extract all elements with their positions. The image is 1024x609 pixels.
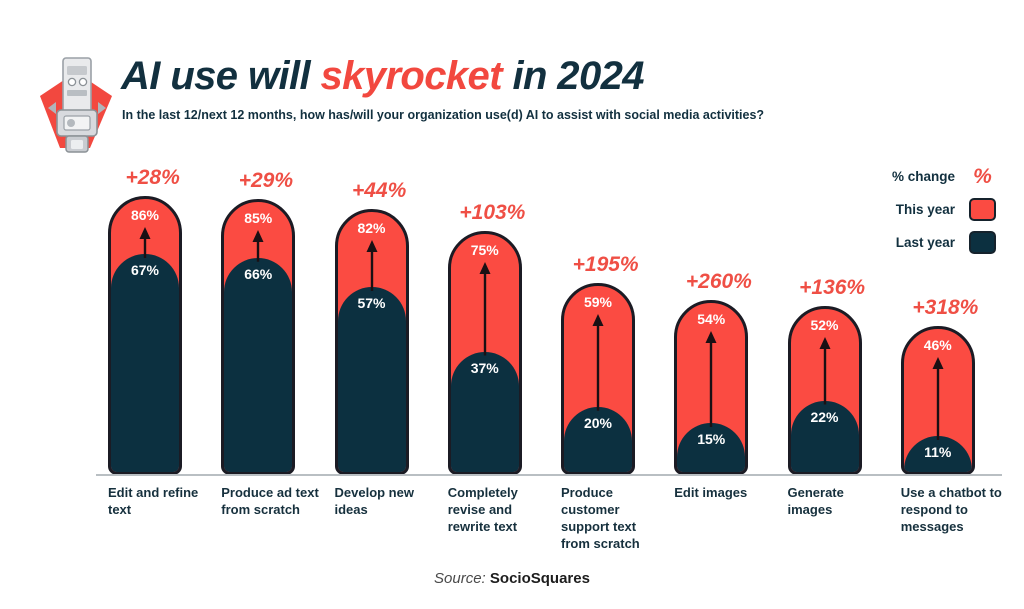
bar-this-year[interactable]: 46%11% bbox=[901, 326, 975, 476]
percent-change-label: +318% bbox=[889, 296, 1002, 320]
value-label-this-year: 52% bbox=[791, 317, 859, 333]
percent-change-label: +136% bbox=[776, 276, 889, 300]
rocket-logo bbox=[30, 44, 122, 162]
title-part-1: AI use will bbox=[121, 54, 321, 98]
percent-change-label: +260% bbox=[662, 270, 775, 294]
title-accent: skyrocket bbox=[321, 54, 502, 98]
category-label: Edit images bbox=[662, 484, 775, 553]
value-label-this-year: 86% bbox=[111, 207, 179, 223]
bar-column: 82%57%+44% bbox=[323, 150, 436, 475]
category-label: Edit and refine text bbox=[96, 484, 209, 553]
bar-wrapper: 52%22% bbox=[788, 306, 862, 475]
bar-last-year[interactable] bbox=[224, 258, 292, 473]
value-label-last-year: 11% bbox=[904, 444, 972, 460]
bar-wrapper: 54%15% bbox=[674, 300, 748, 476]
value-label-last-year: 67% bbox=[111, 262, 179, 278]
source-label: Source: bbox=[434, 570, 486, 587]
value-label-last-year: 20% bbox=[564, 415, 632, 431]
growth-arrow-icon bbox=[931, 357, 945, 441]
value-label-this-year: 46% bbox=[904, 337, 972, 353]
value-label-last-year: 22% bbox=[791, 409, 859, 425]
value-label-this-year: 59% bbox=[564, 294, 632, 310]
chart-baseline bbox=[96, 474, 1002, 476]
page-subtitle: In the last 12/next 12 months, how has/w… bbox=[122, 108, 764, 122]
title-part-2: in 2024 bbox=[502, 54, 644, 98]
category-label: Use a chatbot to respond to messages bbox=[889, 484, 1002, 553]
value-label-last-year: 66% bbox=[224, 266, 292, 282]
bar-last-year[interactable] bbox=[338, 287, 406, 472]
growth-arrow-icon bbox=[704, 331, 718, 428]
value-label-last-year: 37% bbox=[451, 360, 519, 376]
bar-wrapper: 75%37% bbox=[448, 231, 522, 475]
bar-this-year[interactable]: 85%66% bbox=[221, 199, 295, 475]
bar-this-year[interactable]: 52%22% bbox=[788, 306, 862, 475]
bar-this-year[interactable]: 54%15% bbox=[674, 300, 748, 476]
bar-this-year[interactable]: 75%37% bbox=[448, 231, 522, 475]
bar-wrapper: 59%20% bbox=[561, 283, 635, 475]
source-name: SocioSquares bbox=[490, 570, 590, 587]
bar-column: 52%22%+136% bbox=[776, 150, 889, 475]
bar-group: 86%67%+28%85%66%+29%82%57%+44%75%37%+103… bbox=[96, 150, 1002, 475]
value-label-last-year: 57% bbox=[338, 295, 406, 311]
bar-column: 59%20%+195% bbox=[549, 150, 662, 475]
bar-column: 54%15%+260% bbox=[662, 150, 775, 475]
value-label-last-year: 15% bbox=[677, 431, 745, 447]
bar-column: 75%37%+103% bbox=[436, 150, 549, 475]
bar-this-year[interactable]: 86%67% bbox=[108, 196, 182, 476]
value-label-this-year: 85% bbox=[224, 210, 292, 226]
growth-arrow-icon bbox=[478, 262, 492, 356]
category-label: Produce customer support text from scrat… bbox=[549, 484, 662, 553]
percent-change-label: +103% bbox=[436, 201, 549, 225]
value-label-this-year: 75% bbox=[451, 242, 519, 258]
growth-arrow-icon bbox=[818, 337, 832, 405]
bar-wrapper: 85%66% bbox=[221, 199, 295, 475]
bar-wrapper: 46%11% bbox=[901, 326, 975, 476]
percent-change-label: +29% bbox=[209, 169, 322, 193]
growth-arrow-icon bbox=[251, 230, 265, 262]
source-note: Source: SocioSquares bbox=[0, 570, 1024, 587]
percent-change-label: +44% bbox=[323, 179, 436, 203]
category-label: Generate images bbox=[776, 484, 889, 553]
growth-arrow-icon bbox=[591, 314, 605, 411]
growth-arrow-icon bbox=[365, 240, 379, 291]
bar-this-year[interactable]: 59%20% bbox=[561, 283, 635, 475]
bar-column: 46%11%+318% bbox=[889, 150, 1002, 475]
value-label-this-year: 82% bbox=[338, 220, 406, 236]
bar-chart: 86%67%+28%85%66%+29%82%57%+44%75%37%+103… bbox=[96, 150, 1002, 475]
growth-arrow-icon bbox=[138, 227, 152, 259]
percent-change-label: +195% bbox=[549, 253, 662, 277]
bar-this-year[interactable]: 82%57% bbox=[335, 209, 409, 476]
category-axis: Edit and refine textProduce ad text from… bbox=[96, 484, 1002, 553]
bar-last-year[interactable] bbox=[111, 254, 179, 472]
page-title: AI use will skyrocket in 2024 bbox=[121, 54, 644, 99]
category-label: Develop new ideas bbox=[323, 484, 436, 553]
bar-column: 86%67%+28% bbox=[96, 150, 209, 475]
infographic-page: AI use will skyrocket in 2024 In the las… bbox=[0, 0, 1024, 609]
bar-wrapper: 82%57% bbox=[335, 209, 409, 476]
category-label: Completely revise and rewrite text bbox=[436, 484, 549, 553]
value-label-this-year: 54% bbox=[677, 311, 745, 327]
bar-column: 85%66%+29% bbox=[209, 150, 322, 475]
category-label: Produce ad text from scratch bbox=[209, 484, 322, 553]
bar-wrapper: 86%67% bbox=[108, 196, 182, 476]
percent-change-label: +28% bbox=[96, 166, 209, 190]
